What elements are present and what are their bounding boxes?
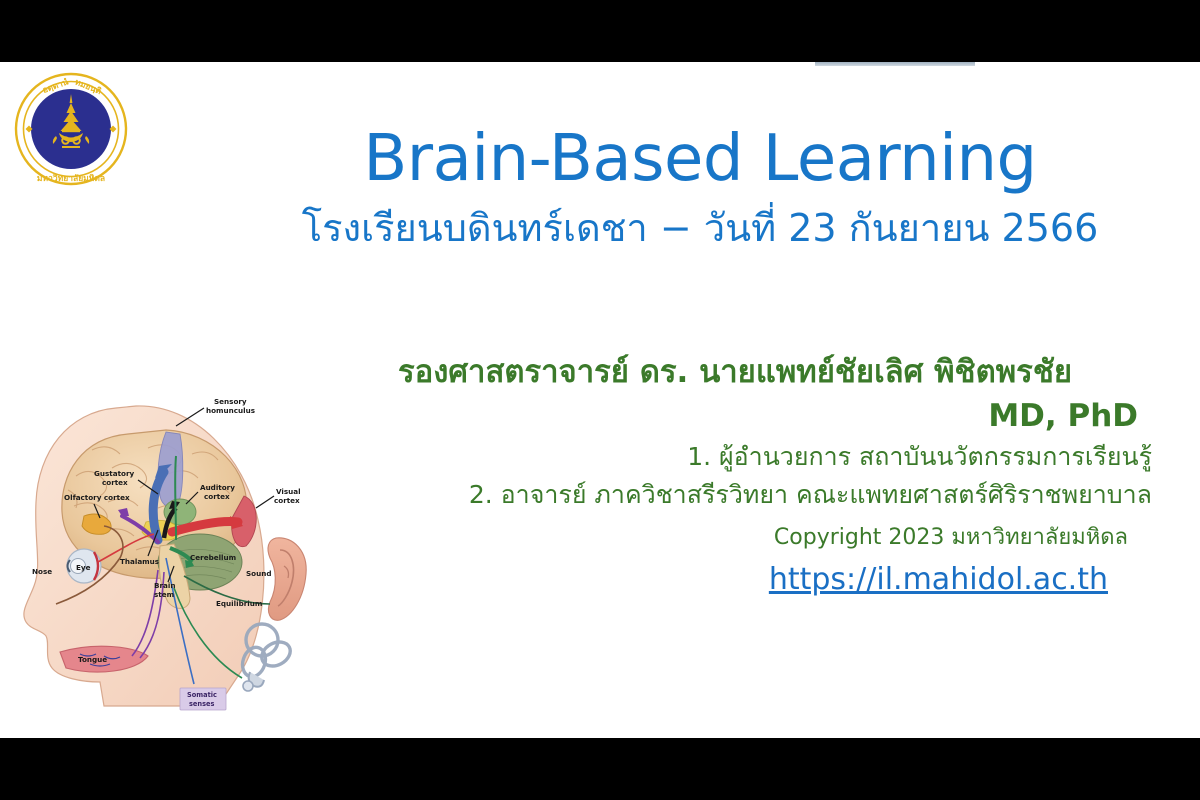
label-eye: Eye <box>76 563 91 572</box>
label-gustatory-cortex-2: cortex <box>102 478 128 487</box>
label-auditory-cortex-2: cortex <box>204 492 230 501</box>
page-title: Brain-Based Learning <box>210 124 1190 196</box>
label-gustatory-cortex: Gustatory <box>94 469 134 478</box>
label-sensory-homunculus-2: homunculus <box>206 406 255 415</box>
label-auditory-cortex: Auditory <box>200 483 235 492</box>
label-equilibrium: Equilibrium <box>216 599 262 608</box>
label-tongue: Tongue <box>78 655 107 664</box>
presenter-degree: MD, PhD <box>300 396 1160 438</box>
copyright-notice: Copyright 2023 มหาวิทยาลัยมหิดล <box>300 521 1160 554</box>
presenter-role-1: 1. ผู้อำนวยการ สถาบันนวัตกรรมการเรียนรู้ <box>300 438 1160 477</box>
svg-text:มหาวิทยาลัยมหิดล: มหาวิทยาลัยมหิดล <box>37 173 105 184</box>
label-nose: Nose <box>32 567 52 576</box>
top-edge-strip <box>815 62 975 66</box>
brain-sensory-pathways-figure: Sensory homunculus Gustatory cortex Olfa… <box>8 390 326 720</box>
title-block: Brain-Based Learning โรงเรียนบดินทร์เดชา… <box>210 124 1190 251</box>
presenter-role-2: 2. อาจารย์ ภาควิชาสรีรวิทยา คณะแพทยศาสตร… <box>300 476 1160 515</box>
label-somatic-senses-2: senses <box>189 700 214 708</box>
label-cerebellum: Cerebellum <box>190 553 236 562</box>
presenter-name: รองศาสตราจารย์ ดร. นายแพทย์ชัยเลิศ พิชิต… <box>300 352 1160 394</box>
institute-website-link[interactable]: https://il.mahidol.ac.th <box>300 562 1160 597</box>
presenter-info-block: รองศาสตราจารย์ ดร. นายแพทย์ชัยเลิศ พิชิต… <box>300 352 1160 597</box>
label-olfactory-cortex: Olfactory cortex <box>64 493 130 502</box>
label-sound: Sound <box>246 569 272 578</box>
label-visual-cortex: Visual <box>276 487 301 496</box>
mahidol-university-logo: อตฺตานํ ทมยนฺติ มหาวิทยาลัยมหิดล <box>12 70 130 188</box>
slide-subtitle: โรงเรียนบดินทร์เดชา − วันที่ 23 กันยายน … <box>210 206 1190 252</box>
label-somatic-senses: Somatic <box>187 691 217 699</box>
letterbox-top <box>0 0 1200 62</box>
letterbox-bottom <box>0 738 1200 800</box>
label-brain-stem-2: stem <box>154 590 174 599</box>
label-brain-stem: Brain <box>154 581 175 590</box>
presentation-screen: อตฺตานํ ทมยนฺติ มหาวิทยาลัยมหิดล <box>0 0 1200 800</box>
label-sensory-homunculus: Sensory <box>214 397 247 406</box>
label-visual-cortex-2: cortex <box>274 496 300 505</box>
label-thalamus: Thalamus <box>120 557 159 566</box>
slide-canvas: อตฺตานํ ทมยนฺติ มหาวิทยาลัยมหิดล <box>0 62 1200 738</box>
